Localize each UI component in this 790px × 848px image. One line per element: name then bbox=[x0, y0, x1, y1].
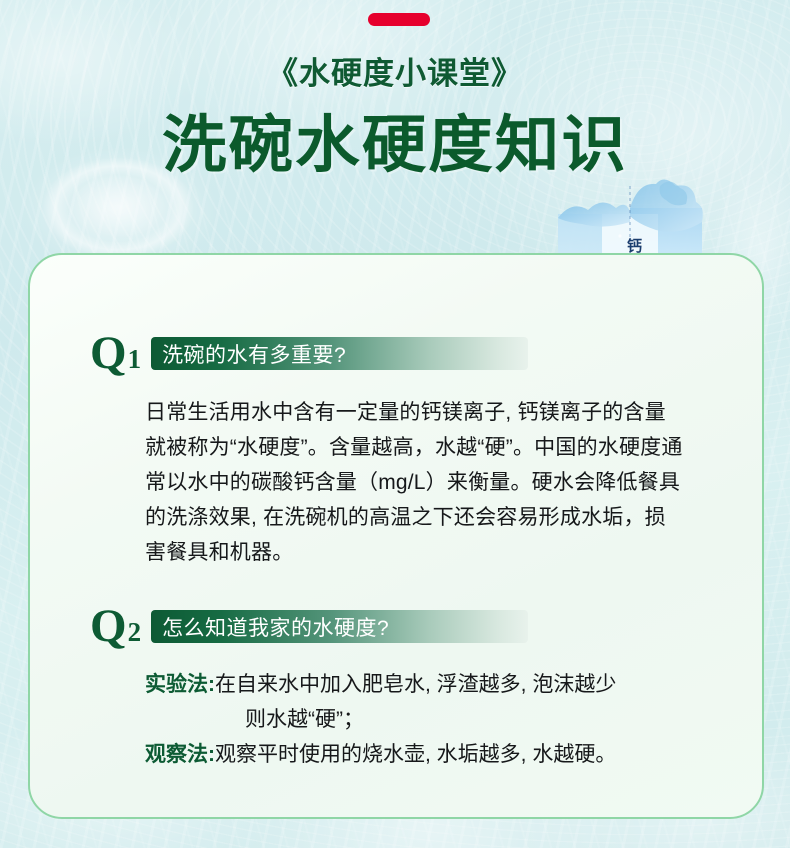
q1-paragraph: 日常生活用水中含有一定量的钙镁离子, 钙镁离子的含量就被称为“水硬度”。含量越高… bbox=[145, 395, 685, 570]
q2-heading-row: Q 2 怎么知道我家的水硬度? bbox=[90, 603, 528, 650]
red-accent-bar bbox=[368, 13, 430, 26]
q2-marker: Q 2 bbox=[90, 603, 141, 650]
q2-heading-text: 怎么知道我家的水硬度? bbox=[162, 612, 389, 642]
q1-marker: Q 1 bbox=[90, 330, 141, 377]
method-text: 观察平时使用的烧水壶, 水垢越多, 水越硬。 bbox=[215, 737, 705, 772]
method-continuation: 则水越“硬”； bbox=[145, 702, 705, 737]
page-title: 洗碗水硬度知识 bbox=[0, 94, 790, 184]
q2-letter: Q bbox=[90, 603, 127, 650]
page-subtitle: 《水硬度小课堂》 bbox=[0, 48, 790, 93]
q2-number: 2 bbox=[128, 619, 142, 646]
q1-number: 1 bbox=[128, 346, 142, 373]
q1-heading-text: 洗碗的水有多重要? bbox=[162, 339, 346, 369]
q1-heading-row: Q 1 洗碗的水有多重要? bbox=[90, 330, 528, 377]
q1-letter: Q bbox=[90, 330, 127, 377]
list-item: 实验法: 在自来水中加入肥皂水, 浮渣越多, 泡沫越少 bbox=[145, 667, 705, 702]
method-label: 实验法: bbox=[145, 667, 215, 702]
list-item: 观察法: 观察平时使用的烧水壶, 水垢越多, 水越硬。 bbox=[145, 737, 705, 772]
method-label: 观察法: bbox=[145, 737, 215, 772]
q1-heading-bar: 洗碗的水有多重要? bbox=[151, 337, 528, 370]
content-card: Q 1 洗碗的水有多重要? 日常生活用水中含有一定量的钙镁离子, 钙镁离子的含量… bbox=[28, 253, 764, 819]
method-text: 在自来水中加入肥皂水, 浮渣越多, 泡沫越少 bbox=[215, 667, 705, 702]
q2-method-list: 实验法: 在自来水中加入肥皂水, 浮渣越多, 泡沫越少 则水越“硬”； 观察法:… bbox=[145, 667, 705, 772]
q2-heading-bar: 怎么知道我家的水硬度? bbox=[151, 610, 528, 643]
